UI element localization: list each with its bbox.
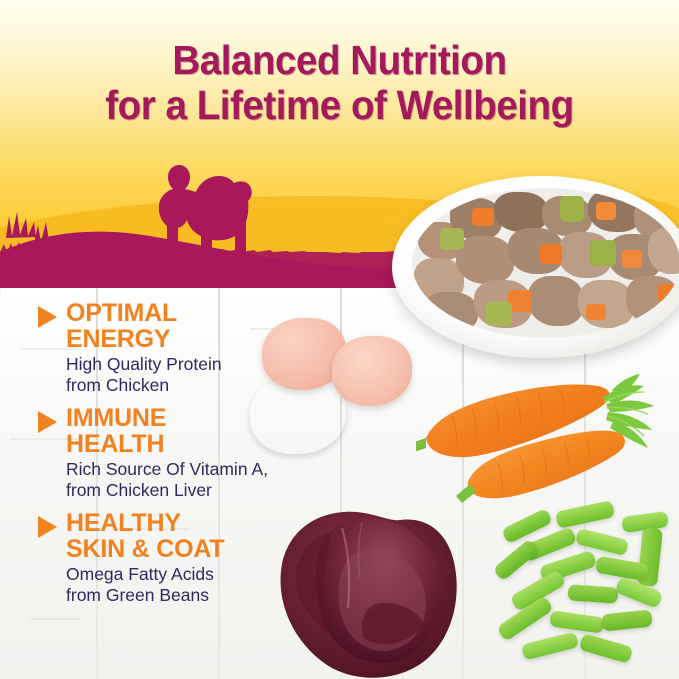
plate-of-food-image: [392, 176, 679, 362]
benefit-heading-line-1: HEALTHY: [66, 509, 181, 537]
benefit-body-line-1: Omega Fatty Acids: [66, 564, 214, 584]
triangle-bullet-icon: [38, 411, 57, 433]
headline-line-1: Balanced Nutrition: [20, 38, 658, 83]
benefit-body-line-2: from Chicken: [66, 375, 169, 395]
benefit-body: Omega Fatty Acids from Green Beans: [66, 564, 300, 606]
triangle-bullet-icon: [38, 306, 57, 328]
benefit-heading: HEALTHY SKIN & COAT: [66, 510, 300, 562]
benefit-body-line-1: Rich Source Of Vitamin A,: [66, 459, 268, 479]
benefit-body-line-1: High Quality Protein: [66, 354, 222, 374]
benefit-body-line-2: from Chicken Liver: [66, 480, 212, 500]
benefit-item-healthy-skin-coat: HEALTHY SKIN & COAT Omega Fatty Acids fr…: [0, 510, 300, 606]
benefit-item-optimal-energy: OPTIMAL ENERGY High Quality Protein from…: [0, 300, 300, 396]
benefit-body-line-2: from Green Beans: [66, 585, 209, 605]
benefit-body: Rich Source Of Vitamin A, from Chicken L…: [66, 459, 300, 501]
benefit-body: High Quality Protein from Chicken: [66, 354, 300, 396]
benefit-heading-line-1: OPTIMAL: [66, 299, 177, 327]
benefit-heading-line-2: HEALTH: [66, 430, 164, 458]
green-beans-image: [492, 506, 679, 674]
benefit-heading: IMMUNE HEALTH: [66, 405, 300, 457]
benefit-item-immune-health: IMMUNE HEALTH Rich Source Of Vitamin A, …: [0, 405, 300, 501]
wood-grain: [30, 618, 80, 620]
benefit-heading-line-2: ENERGY: [66, 325, 170, 353]
benefit-heading-line-1: IMMUNE: [66, 404, 166, 432]
triangle-bullet-icon: [38, 516, 57, 538]
headline-block: Balanced Nutrition for a Lifetime of Wel…: [0, 0, 679, 128]
headline-line-2: for a Lifetime of Wellbeing: [20, 83, 658, 128]
plate-food-area: [412, 188, 679, 338]
benefit-bullet-list: OPTIMAL ENERGY High Quality Protein from…: [0, 300, 300, 615]
product-feature-banner: Balanced Nutrition for a Lifetime of Wel…: [0, 0, 679, 679]
benefit-heading: OPTIMAL ENERGY: [66, 300, 300, 352]
benefit-heading-line-2: SKIN & COAT: [66, 535, 224, 563]
